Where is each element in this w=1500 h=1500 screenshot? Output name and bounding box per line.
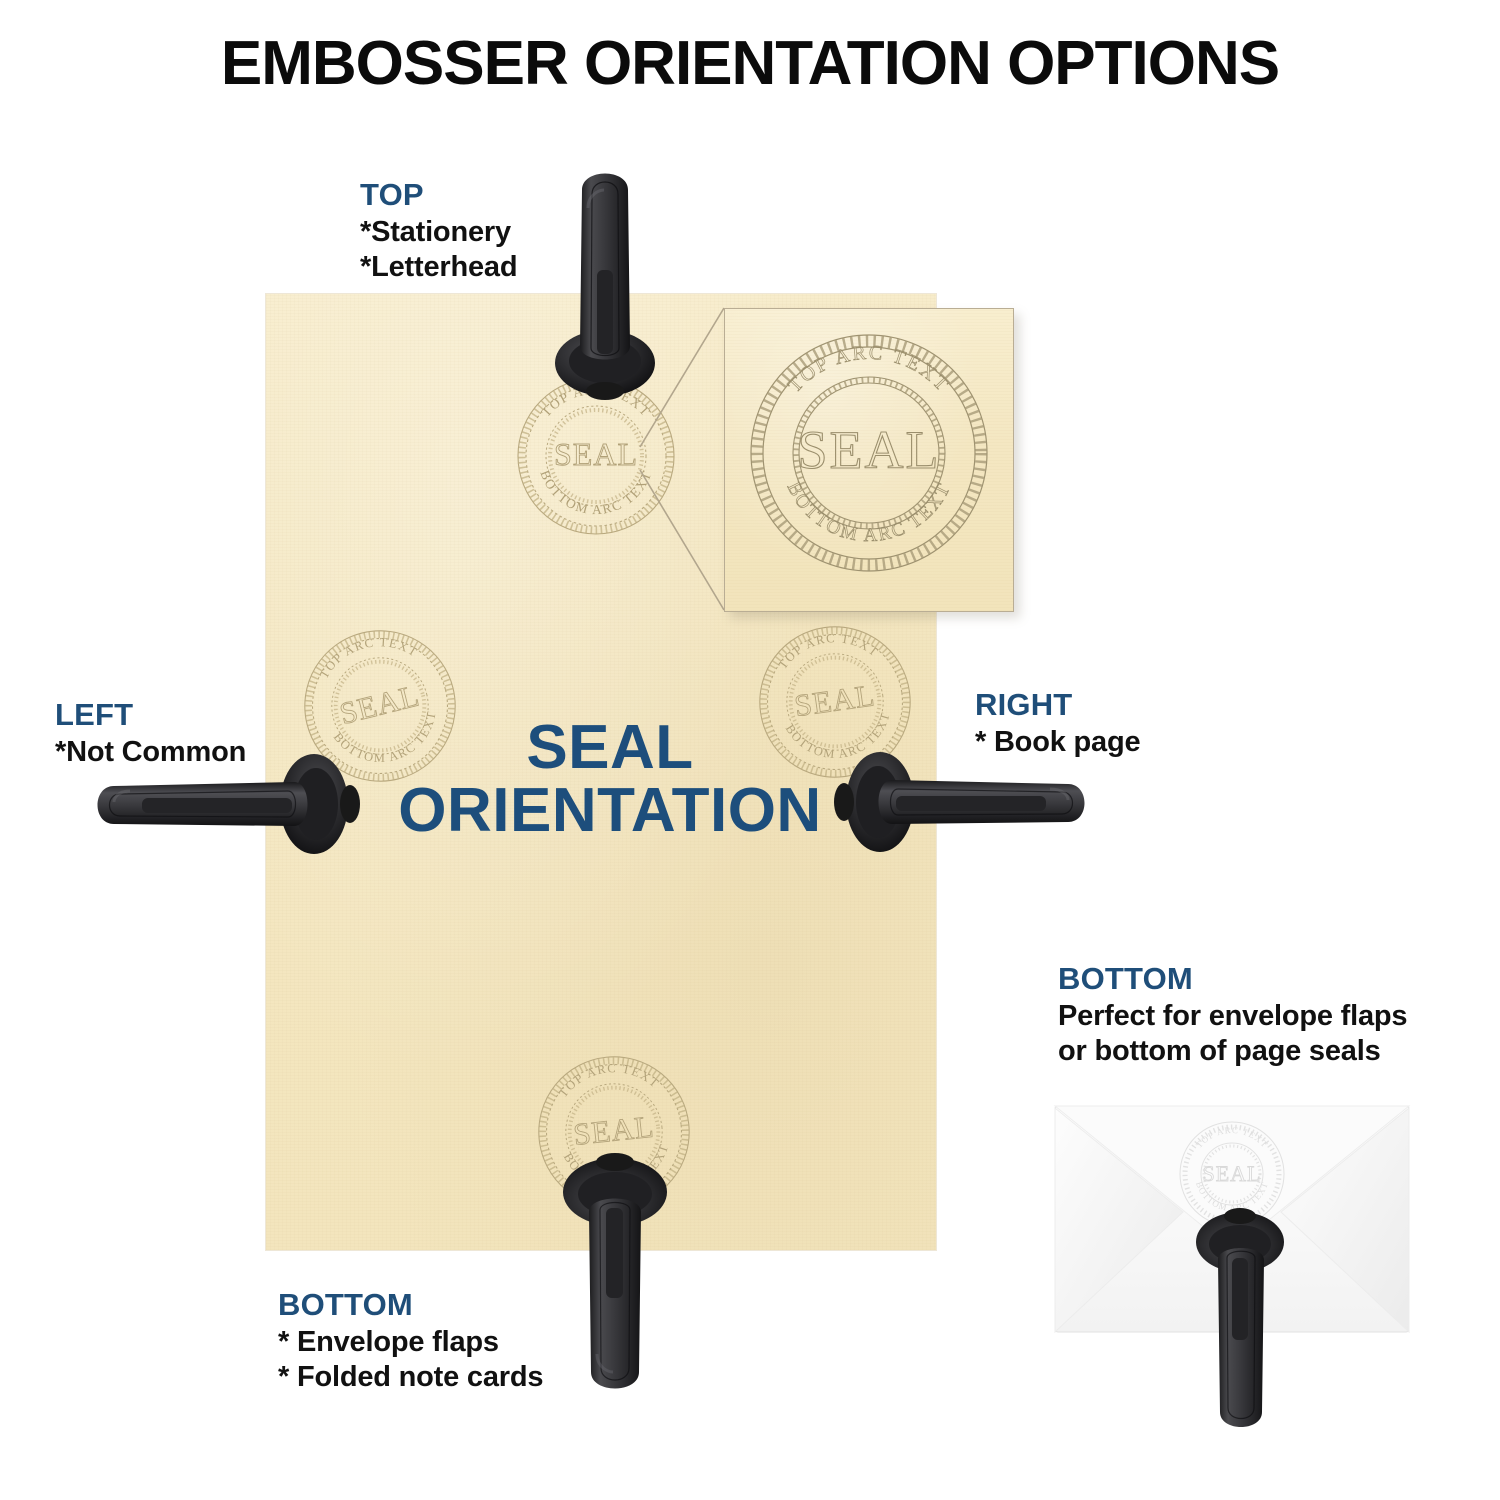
label-top-line-1: *Letterhead: [360, 250, 517, 285]
embosser-tool-envelope: [1180, 1200, 1300, 1445]
label-bottom-left: BOTTOM * Envelope flaps * Folded note ca…: [278, 1288, 543, 1395]
label-bottom-right-line-0: Perfect for envelope flaps: [1058, 999, 1407, 1034]
embossed-seal-magnified: TOP ARC TEXT BOTTOM ARC TEXT SEAL: [743, 327, 995, 579]
label-top: TOP *Stationery *Letterhead: [360, 178, 517, 285]
embosser-tool-bottom: [545, 1140, 685, 1410]
label-right-line-0: * Book page: [975, 725, 1140, 760]
svg-text:TOP ARC TEXT: TOP ARC TEXT: [784, 342, 955, 397]
svg-text:SEAL: SEAL: [1203, 1161, 1262, 1186]
label-right-heading: RIGHT: [975, 688, 1140, 723]
label-bottom-left-line-1: * Folded note cards: [278, 1360, 543, 1395]
label-bottom-right-line-1: or bottom of page seals: [1058, 1034, 1407, 1069]
label-left-line-0: *Not Common: [55, 735, 246, 770]
label-bottom-right-heading: BOTTOM: [1058, 962, 1407, 997]
diagram-canvas: EMBOSSER ORIENTATION OPTIONS TOP ARC TEX…: [0, 0, 1500, 1500]
label-top-heading: TOP: [360, 178, 517, 213]
svg-text:SEAL: SEAL: [798, 420, 941, 480]
label-bottom-right: BOTTOM Perfect for envelope flaps or bot…: [1058, 962, 1407, 1069]
magnified-detail-callout: TOP ARC TEXT BOTTOM ARC TEXT SEAL: [724, 308, 1014, 612]
label-left-heading: LEFT: [55, 698, 246, 733]
page-title: EMBOSSER ORIENTATION OPTIONS: [0, 28, 1500, 99]
label-left: LEFT *Not Common: [55, 698, 246, 770]
embosser-tool-top: [540, 150, 670, 400]
label-top-line-0: *Stationery: [360, 215, 517, 250]
label-right: RIGHT * Book page: [975, 688, 1140, 760]
label-bottom-left-heading: BOTTOM: [278, 1288, 543, 1323]
label-bottom-left-line-0: * Envelope flaps: [278, 1325, 543, 1360]
svg-text:BOTTOM ARC TEXT: BOTTOM ARC TEXT: [783, 479, 956, 546]
embosser-tool-right: [840, 744, 1100, 862]
